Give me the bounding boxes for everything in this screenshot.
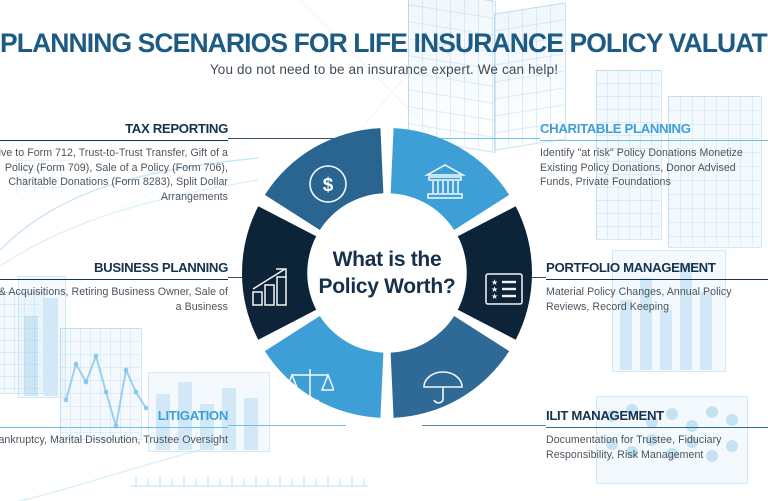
donut-segment-litigation[interactable] bbox=[265, 316, 384, 418]
callout-heading-business-planning: BUSINESS PLANNING bbox=[0, 260, 228, 278]
callout-heading-litigation: LITIGATION bbox=[0, 408, 228, 426]
callout-body-litigation: Bankruptcy, Marital Dissolution, Trustee… bbox=[0, 428, 228, 448]
page-title: PLANNING SCENARIOS FOR LIFE INSURANCE PO… bbox=[0, 28, 768, 59]
callout-body-charitable-planning: Identify "at risk" Policy Donations Mone… bbox=[540, 141, 768, 190]
callout-ilit-management[interactable]: ILIT MANAGEMENT Documentation for Truste… bbox=[546, 408, 768, 462]
callout-tax-reporting[interactable]: TAX REPORTING Alternative to Form 712, T… bbox=[0, 121, 228, 204]
callout-portfolio-management[interactable]: PORTFOLIO MANAGEMENT Material Policy Cha… bbox=[546, 260, 768, 314]
bg-ruler-bottom bbox=[130, 470, 370, 492]
connector-rule-ilit-management bbox=[422, 425, 546, 426]
donut-svg bbox=[242, 128, 532, 418]
donut-segment-ilit-management[interactable] bbox=[391, 316, 510, 418]
donut-segment-tax-reporting[interactable] bbox=[265, 128, 384, 230]
callout-charitable-planning[interactable]: CHARITABLE PLANNING Identify "at risk" P… bbox=[540, 121, 768, 190]
donut-segment-charitable-planning[interactable] bbox=[391, 128, 510, 230]
callout-body-business-planning: Merger & Acquisitions, Retiring Business… bbox=[0, 280, 228, 314]
callout-body-portfolio-management: Material Policy Changes, Annual Policy R… bbox=[546, 280, 768, 314]
callout-heading-portfolio-management: PORTFOLIO MANAGEMENT bbox=[546, 260, 768, 278]
infographic-canvas: PLANNING SCENARIOS FOR LIFE INSURANCE PO… bbox=[0, 0, 768, 501]
bg-bar-r3 bbox=[660, 310, 672, 370]
callout-heading-charitable-planning: CHARITABLE PLANNING bbox=[540, 121, 768, 139]
bg-curve-bottomleft bbox=[0, 440, 200, 501]
callout-body-ilit-management: Documentation for Trustee, Fiduciary Res… bbox=[546, 428, 768, 462]
policy-value-donut-chart[interactable] bbox=[242, 128, 532, 418]
connector-rule-litigation bbox=[228, 425, 346, 426]
callout-heading-tax-reporting: TAX REPORTING bbox=[0, 121, 228, 139]
donut-segment-portfolio-management[interactable] bbox=[458, 206, 532, 339]
page-subtitle: You do not need to be an insurance exper… bbox=[0, 62, 768, 77]
callout-heading-ilit-management: ILIT MANAGEMENT bbox=[546, 408, 768, 426]
callout-body-tax-reporting: Alternative to Form 712, Trust-to-Trust … bbox=[0, 141, 228, 204]
donut-segment-business-planning[interactable] bbox=[242, 206, 316, 339]
bg-bar-l1 bbox=[24, 316, 38, 396]
callout-business-planning[interactable]: BUSINESS PLANNING Merger & Acquisitions,… bbox=[0, 260, 228, 314]
callout-litigation[interactable]: LITIGATION Bankruptcy, Marital Dissoluti… bbox=[0, 408, 228, 448]
